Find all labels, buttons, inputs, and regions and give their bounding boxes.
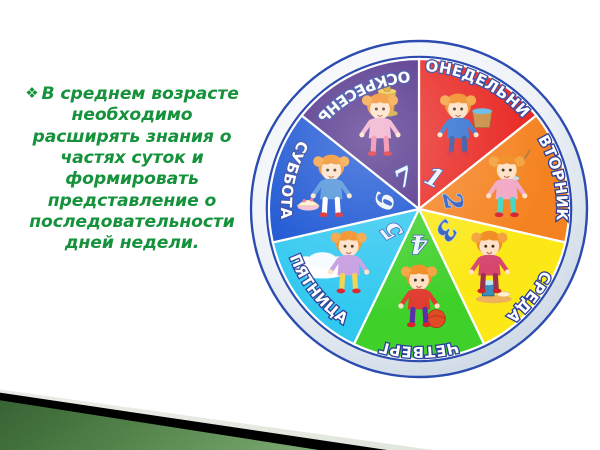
lesson-text-line-3: расширять знания о bbox=[33, 127, 232, 147]
week-days-wheel: ПОНЕДЕЛЬНИК1ВТОРНИК2СРЕДА3ЧЕТВЕРГ4ПЯТНИЦ… bbox=[248, 38, 590, 380]
lesson-text-line-7: последовательности bbox=[29, 212, 234, 232]
slide-canvas: ❖В среднем возрасте необходимо расширять… bbox=[0, 0, 600, 450]
child-washing-prop-icon bbox=[472, 108, 492, 127]
child-playing-ball-prop-icon bbox=[427, 310, 445, 328]
lesson-text-line-1: В среднем возрасте bbox=[42, 84, 239, 104]
lesson-text-line-6: представление о bbox=[48, 191, 216, 211]
wheel-svg: ПОНЕДЕЛЬНИК1ВТОРНИК2СРЕДА3ЧЕТВЕРГ4ПЯТНИЦ… bbox=[248, 38, 590, 380]
lesson-text-line-4: частях суток и bbox=[60, 148, 203, 168]
slice-number-4: 4 bbox=[410, 229, 427, 258]
bullet-diamond-icon: ❖ bbox=[25, 84, 38, 103]
lesson-text-line-2: необходимо bbox=[71, 105, 192, 125]
lesson-text-block: ❖В среднем возрасте необходимо расширять… bbox=[6, 84, 258, 255]
lesson-text-line-8: дней недели. bbox=[65, 233, 199, 253]
lesson-text-line-5: формировать bbox=[65, 169, 199, 189]
